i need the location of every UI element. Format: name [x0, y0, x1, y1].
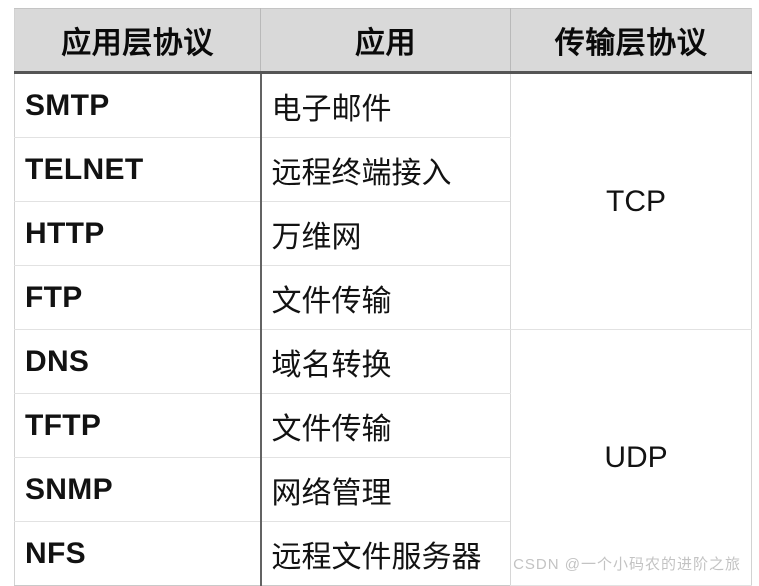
cell-application: 电子邮件: [261, 73, 511, 138]
cell-application: 网络管理: [261, 458, 511, 522]
column-header-application: 应用: [261, 9, 511, 73]
cell-protocol: DNS: [15, 330, 261, 394]
cell-transport-udp: UDP: [511, 330, 752, 586]
cell-protocol: TFTP: [15, 394, 261, 458]
table-header-row: 应用层协议 应用 传输层协议: [15, 9, 752, 73]
table-header: 应用层协议 应用 传输层协议: [15, 9, 752, 73]
cell-protocol: TELNET: [15, 138, 261, 202]
cell-protocol: HTTP: [15, 202, 261, 266]
column-header-protocol: 应用层协议: [15, 9, 261, 73]
cell-application: 域名转换: [261, 330, 511, 394]
protocol-table: 应用层协议 应用 传输层协议 SMTP 电子邮件 TCP TELNET 远程终端…: [14, 8, 752, 586]
cell-application: 远程终端接入: [261, 138, 511, 202]
table-row: DNS 域名转换 UDP: [15, 330, 752, 394]
cell-application: 文件传输: [261, 394, 511, 458]
cell-transport-tcp: TCP: [511, 73, 752, 330]
cell-application: 万维网: [261, 202, 511, 266]
column-header-transport: 传输层协议: [511, 9, 752, 73]
table-body: SMTP 电子邮件 TCP TELNET 远程终端接入 HTTP 万维网 FTP…: [15, 73, 752, 586]
table-row: SMTP 电子邮件 TCP: [15, 73, 752, 138]
cell-protocol: SMTP: [15, 73, 261, 138]
cell-application: 远程文件服务器: [261, 522, 511, 586]
cell-protocol: FTP: [15, 266, 261, 330]
page-root: 应用层协议 应用 传输层协议 SMTP 电子邮件 TCP TELNET 远程终端…: [0, 0, 759, 584]
cell-application: 文件传输: [261, 266, 511, 330]
cell-protocol: NFS: [15, 522, 261, 586]
cell-protocol: SNMP: [15, 458, 261, 522]
